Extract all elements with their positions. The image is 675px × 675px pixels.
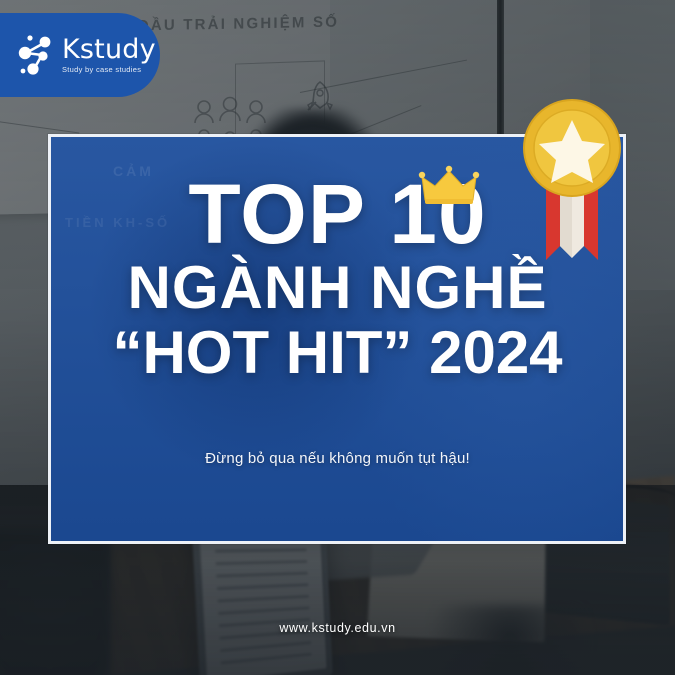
brand-logo-text: Kstudy Study by case studies xyxy=(62,36,156,74)
website-url[interactable]: www.kstudy.edu.vn xyxy=(0,621,675,635)
crown-icon xyxy=(418,164,480,208)
molecule-k-icon xyxy=(14,31,58,79)
brand-name: Kstudy xyxy=(62,36,156,63)
award-medal-icon xyxy=(508,96,636,266)
panel-ghost-text-1: CẢM xyxy=(113,163,154,179)
panel-ghost-text-2: TIỀN KH-SỐ xyxy=(65,215,170,230)
poster-canvas: KHỞI ĐẦU TRẢI NGHIỆM SỐ xyxy=(0,0,675,675)
brand-logo-badge[interactable]: Kstudy Study by case studies xyxy=(0,13,160,97)
poster-subtitle: Đừng bỏ qua nếu không muốn tụt hậu! xyxy=(0,450,675,467)
brand-tagline: Study by case studies xyxy=(62,66,156,74)
